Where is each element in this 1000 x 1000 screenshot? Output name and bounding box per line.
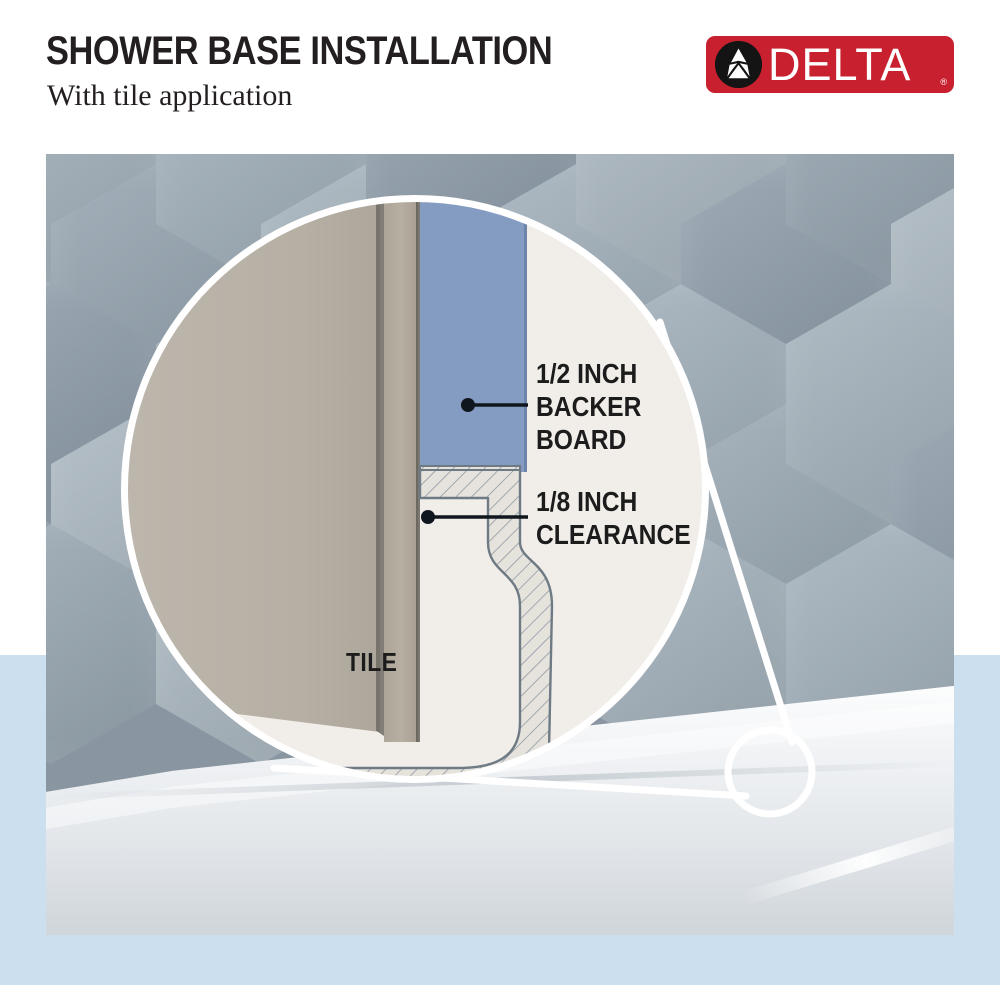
delta-triangle-emblem-icon: [715, 41, 762, 88]
label-clearance: 1/8 INCH CLEARANCE: [536, 485, 691, 551]
label-backer-board: 1/2 INCH BACKER BOARD: [536, 357, 641, 456]
page-subtitle: With tile application: [47, 79, 292, 113]
header: SHOWER BASE INSTALLATION With tile appli…: [0, 0, 1000, 150]
label-tile: TILE: [346, 647, 397, 678]
delta-logo: DELTA ®: [706, 36, 954, 93]
delta-wordmark: DELTA: [768, 39, 911, 91]
leader-backer-board: [461, 398, 528, 412]
registered-trademark-icon: ®: [940, 78, 947, 87]
page-title: SHOWER BASE INSTALLATION: [46, 29, 552, 74]
page-root: SHOWER BASE INSTALLATION With tile appli…: [0, 0, 1000, 1000]
